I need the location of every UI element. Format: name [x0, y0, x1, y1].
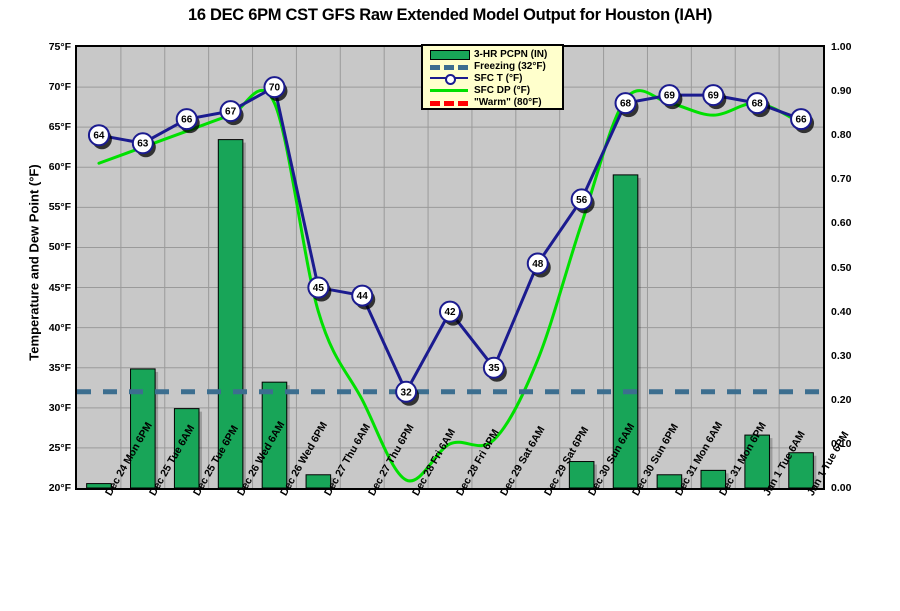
temperature-value-label: 67 — [225, 107, 237, 118]
legend-swatch-dashed-line-icon — [426, 60, 472, 72]
temperature-value-label: 69 — [708, 91, 720, 102]
left-axis-tick-label: 60°F — [31, 161, 71, 173]
right-axis-tick-label: 0.60 — [831, 217, 871, 229]
left-axis-ticks: 20°F25°F30°F35°F40°F45°F50°F55°F60°F65°F… — [25, 45, 71, 490]
x-axis-ticks: Dec 24 Mon 6PMDec 25 Tue 6AMDec 25 Tue 6… — [75, 492, 825, 611]
legend-item: SFC T (°F) — [426, 72, 559, 84]
legend-item: SFC DP (°F) — [426, 84, 559, 96]
right-axis-tick-label: 0.50 — [831, 262, 871, 274]
temperature-value-label: 68 — [620, 99, 632, 110]
temperature-value-label: 66 — [795, 115, 807, 126]
left-axis-tick-label: 25°F — [31, 442, 71, 454]
legend-swatch-solid-line-icon — [426, 84, 472, 96]
left-axis-tick-label: 20°F — [31, 482, 71, 494]
temperature-value-label: 48 — [532, 259, 544, 270]
temperature-value-label: 35 — [488, 363, 500, 374]
legend-label: "Warm" (80°F) — [474, 97, 542, 108]
right-axis-tick-label: 0.30 — [831, 350, 871, 362]
legend-item: Freezing (32°F) — [426, 60, 559, 72]
left-axis-tick-label: 45°F — [31, 282, 71, 294]
legend-label: SFC T (°F) — [474, 73, 522, 84]
temperature-value-label: 64 — [93, 131, 105, 142]
temperature-value-label: 68 — [752, 99, 764, 110]
temperature-value-label: 44 — [357, 291, 369, 302]
page-title: 16 DEC 6PM CST GFS Raw Extended Model Ou… — [0, 6, 900, 25]
left-axis-tick-label: 55°F — [31, 201, 71, 213]
dewpoint-line — [99, 90, 801, 481]
left-axis-tick-label: 70°F — [31, 81, 71, 93]
left-axis-tick-label: 40°F — [31, 322, 71, 334]
left-axis-tick-label: 50°F — [31, 241, 71, 253]
legend-item: "Warm" (80°F) — [426, 96, 559, 108]
right-axis-tick-label: 1.00 — [831, 41, 871, 53]
legend-item: 3-HR PCPN (IN) — [426, 48, 559, 60]
temperature-value-label: 32 — [401, 387, 413, 398]
left-axis-tick-label: 75°F — [31, 41, 71, 53]
right-axis-tick-label: 0.40 — [831, 306, 871, 318]
right-axis-ticks: 0.000.100.200.300.400.500.600.700.800.90… — [831, 45, 877, 490]
temperature-value-label: 70 — [269, 83, 281, 94]
right-axis-tick-label: 0.20 — [831, 394, 871, 406]
left-axis-tick-label: 30°F — [31, 402, 71, 414]
legend-label: SFC DP (°F) — [474, 85, 530, 96]
right-axis-tick-label: 0.00 — [831, 482, 871, 494]
plot-canvas: 6463666770454432423548566869696866 — [77, 47, 823, 488]
right-axis-tick-label: 0.90 — [831, 85, 871, 97]
temperature-value-label: 56 — [576, 195, 588, 206]
legend-label: 3-HR PCPN (IN) — [474, 49, 547, 60]
temperature-line — [99, 87, 801, 392]
chart-legend: 3-HR PCPN (IN)Freezing (32°F)SFC T (°F)S… — [421, 44, 564, 110]
weather-chart: 16 DEC 6PM CST GFS Raw Extended Model Ou… — [0, 0, 900, 611]
right-axis-tick-label: 0.70 — [831, 173, 871, 185]
legend-swatch-filled-bar-icon — [426, 48, 472, 60]
left-axis-tick-label: 35°F — [31, 362, 71, 374]
temperature-value-label: 45 — [313, 283, 325, 294]
temperature-value-label: 42 — [444, 307, 456, 318]
temperature-value-label: 66 — [181, 115, 193, 126]
right-axis-tick-label: 0.80 — [831, 129, 871, 141]
legend-label: Freezing (32°F) — [474, 61, 546, 72]
left-axis-tick-label: 65°F — [31, 121, 71, 133]
legend-swatch-line-marker-icon — [426, 72, 472, 84]
temperature-value-label: 69 — [664, 91, 676, 102]
legend-swatch-dashed-line-icon — [426, 96, 472, 108]
temperature-value-label: 63 — [137, 139, 149, 150]
